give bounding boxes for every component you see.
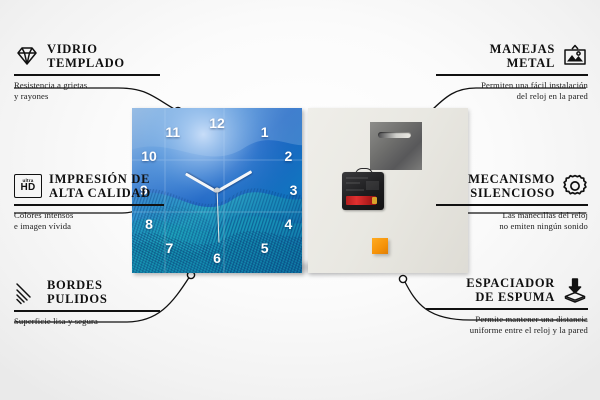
divider xyxy=(426,308,588,310)
feature-subtitle: Superficie lisa y segura xyxy=(14,316,160,328)
arrow-onto-pad-icon xyxy=(562,277,588,303)
clock-numeral: 7 xyxy=(165,240,173,256)
feature-bordes-pulidos: BORDESPULIDOS Superficie lisa y segura xyxy=(14,278,160,327)
infographic-canvas: 12 1 2 3 4 5 6 7 8 9 10 11 xyxy=(0,0,600,400)
ultra-hd-large-label: HD xyxy=(20,183,35,193)
feature-title: MECANISMOSILENCIOSO xyxy=(468,172,555,200)
feature-subtitle: Permite mantener una distanciauniforme e… xyxy=(426,314,588,337)
clock-center-hub xyxy=(215,188,220,193)
clock-numeral: 6 xyxy=(213,250,221,266)
hanger-keyhole-slot xyxy=(378,132,411,138)
divider xyxy=(436,74,588,76)
feature-manejas-metal: MANEJASMETAL Permiten una fácil instalac… xyxy=(436,42,588,103)
feature-header: ultra HD IMPRESIÓN DEALTA CALIDAD xyxy=(14,172,164,200)
feature-title: BORDESPULIDOS xyxy=(47,278,107,306)
divider xyxy=(14,204,164,206)
feature-header: MANEJASMETAL xyxy=(436,42,588,70)
clock-numeral: 1 xyxy=(261,124,269,140)
product-photo: 12 1 2 3 4 5 6 7 8 9 10 11 xyxy=(132,108,468,273)
clock-numeral: 4 xyxy=(284,216,292,232)
feature-subtitle: Las manecillas del relojno emiten ningún… xyxy=(436,210,588,233)
clock-numeral: 11 xyxy=(165,124,180,140)
feature-title: VIDRIOTEMPLADO xyxy=(47,42,125,70)
feature-header: ESPACIADORDE ESPUMA xyxy=(426,276,588,304)
feature-espaciador-de-espuma: ESPACIADORDE ESPUMA Permite mantener una… xyxy=(426,276,588,337)
clock-movement xyxy=(342,168,384,210)
clock-numeral: 3 xyxy=(290,182,298,198)
divider xyxy=(436,204,588,206)
feature-header: VIDRIOTEMPLADO xyxy=(14,42,160,70)
feature-title: IMPRESIÓN DEALTA CALIDAD xyxy=(49,172,151,200)
feature-header: BORDESPULIDOS xyxy=(14,278,160,306)
hanger-plate xyxy=(370,122,422,170)
clock-numeral: 12 xyxy=(209,115,225,131)
picture-frame-hook-icon xyxy=(562,43,588,69)
divider xyxy=(14,74,160,76)
feature-mecanismo-silencioso: MECANISMOSILENCIOSO Las manecillas del r… xyxy=(436,172,588,233)
clock-numeral: 2 xyxy=(284,148,292,164)
polished-edge-icon xyxy=(14,279,40,305)
diamond-icon xyxy=(14,43,40,69)
feature-title: MANEJASMETAL xyxy=(490,42,555,70)
gear-icon xyxy=(562,173,588,199)
divider xyxy=(14,310,160,312)
feature-subtitle: Resistencia a grietasy rayones xyxy=(14,80,160,103)
feature-impresion-alta-calidad: ultra HD IMPRESIÓN DEALTA CALIDAD Colore… xyxy=(14,172,164,233)
feature-header: MECANISMOSILENCIOSO xyxy=(436,172,588,200)
feature-vidrio-templado: VIDRIOTEMPLADO Resistencia a grietasy ra… xyxy=(14,42,160,103)
clock-numeral: 10 xyxy=(141,148,157,164)
feature-subtitle: Permiten una fácil instalacióndel reloj … xyxy=(436,80,588,103)
feature-title: ESPACIADORDE ESPUMA xyxy=(466,276,555,304)
battery-terminal xyxy=(372,197,377,204)
ultra-hd-icon: ultra HD xyxy=(14,174,42,198)
feature-subtitle: Colores intensose imagen vívida xyxy=(14,210,164,233)
clock-numeral: 5 xyxy=(261,240,269,256)
foam-spacer xyxy=(372,238,388,254)
battery xyxy=(346,196,376,205)
